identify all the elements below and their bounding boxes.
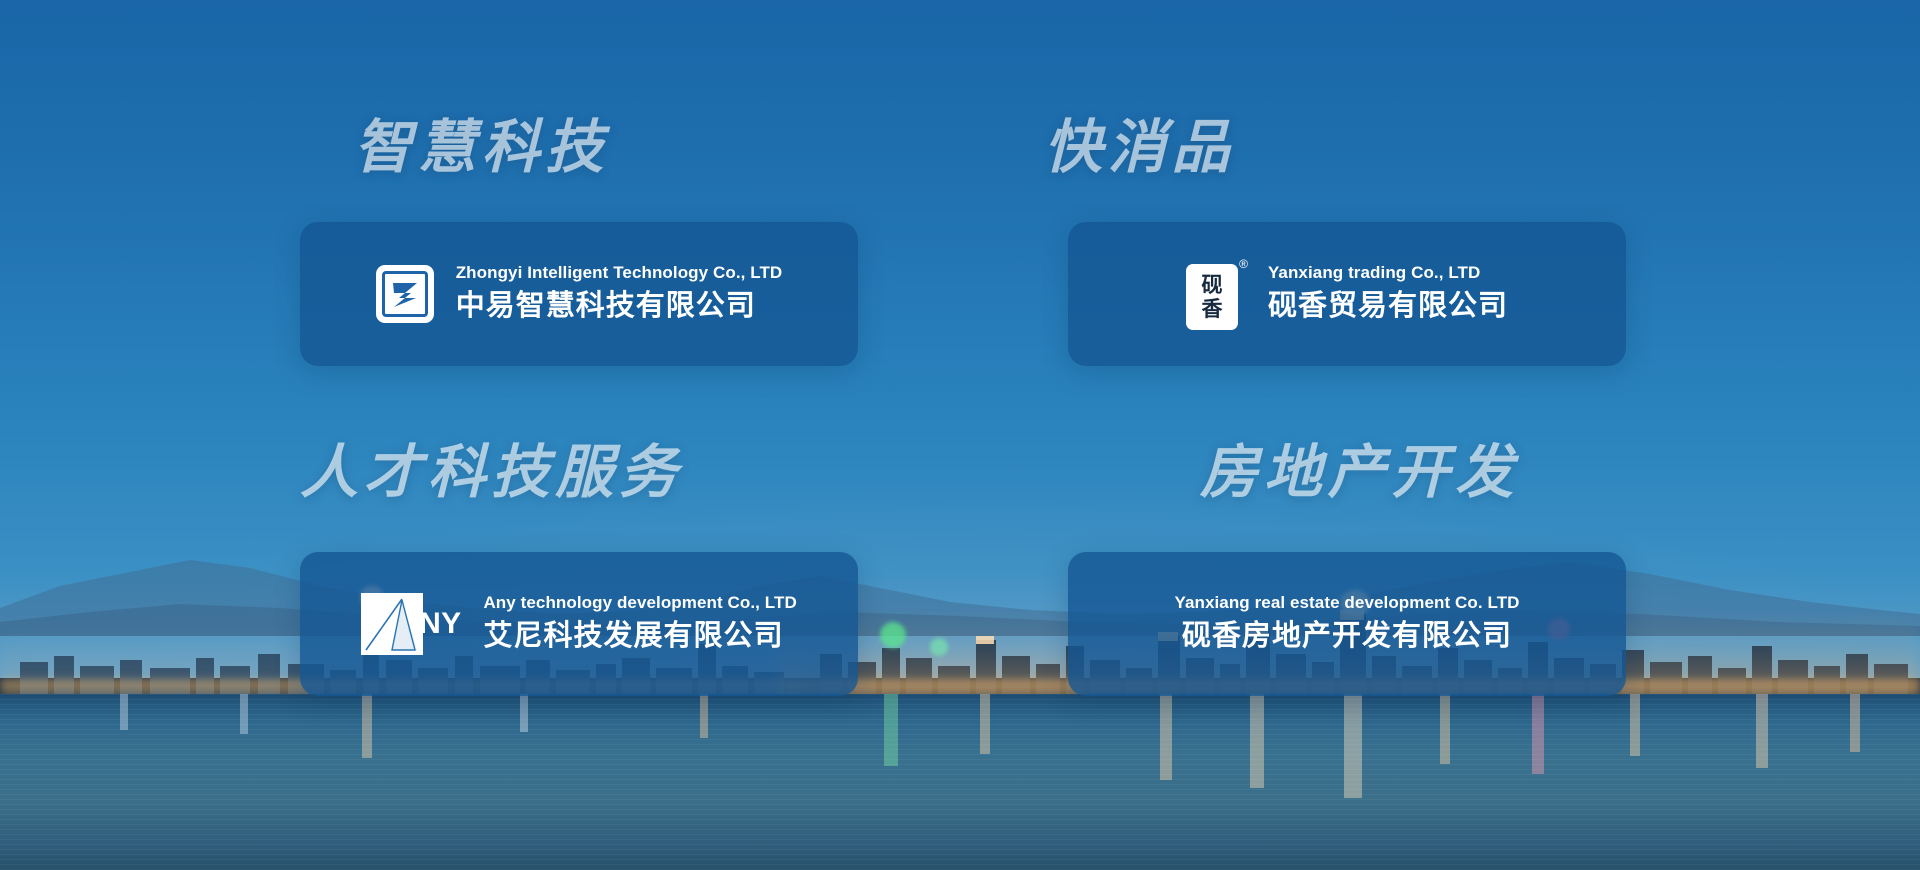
company-name-en: Yanxiang real estate development Co. LTD (1174, 592, 1519, 615)
company-name-en: Any technology development Co., LTD (483, 592, 796, 615)
company-card[interactable]: Zhongyi Intelligent Technology Co., LTD … (300, 222, 858, 366)
seal-glyph-bottom: 香 (1201, 298, 1222, 320)
z-glyph-icon (385, 274, 425, 314)
company-name-block: Zhongyi Intelligent Technology Co., LTD … (456, 262, 783, 325)
section-heading: 人才科技服务 (300, 425, 683, 509)
company-name-en: Yanxiang trading Co., LTD (1268, 262, 1508, 285)
registered-mark-icon: ® (1239, 258, 1248, 270)
sections-grid: 智慧科技 Zhongyi Intelligent Technology Co.,… (0, 0, 1920, 870)
company-name-cn: 砚香房地产开发有限公司 (1182, 617, 1512, 655)
company-card[interactable]: 砚 香 ® Yanxiang trading Co., LTD 砚香贸易有限公司 (1068, 222, 1626, 366)
mountain-glyph-icon (361, 593, 423, 655)
section-fmcg: 快消品 砚 香 ® Yanxiang trading Co., LTD 砚香贸易… (960, 0, 1920, 435)
section-talent-tech-services: 人才科技服务 NY Any technology de (0, 435, 960, 870)
section-heading: 快消品 (1044, 100, 1235, 184)
company-name-cn: 中易智慧科技有限公司 (456, 287, 783, 325)
company-card[interactable]: Yanxiang real estate development Co. LTD… (1068, 552, 1626, 696)
company-name-block: Any technology development Co., LTD 艾尼科技… (483, 592, 796, 655)
section-real-estate: 房地产开发 Yanxiang real estate development C… (960, 435, 1920, 870)
any-logo-text: NY (419, 607, 461, 641)
company-name-block: Yanxiang real estate development Co. LTD… (1174, 592, 1519, 655)
section-heading: 房地产开发 (1200, 425, 1519, 509)
zhongyi-z-mark-icon (376, 265, 434, 323)
section-smart-technology: 智慧科技 Zhongyi Intelligent Technology Co.,… (0, 0, 960, 435)
company-name-block: Yanxiang trading Co., LTD 砚香贸易有限公司 (1268, 262, 1508, 325)
company-name-en: Zhongyi Intelligent Technology Co., LTD (456, 262, 783, 285)
yanxiang-seal-icon: 砚 香 ® (1186, 258, 1246, 330)
company-card[interactable]: NY Any technology development Co., LTD 艾… (300, 552, 858, 696)
seal-glyph-top: 砚 (1201, 274, 1222, 296)
any-mountain-icon: NY (361, 593, 461, 655)
company-name-cn: 艾尼科技发展有限公司 (483, 617, 796, 655)
company-name-cn: 砚香贸易有限公司 (1268, 287, 1508, 325)
section-heading: 智慧科技 (354, 100, 609, 184)
